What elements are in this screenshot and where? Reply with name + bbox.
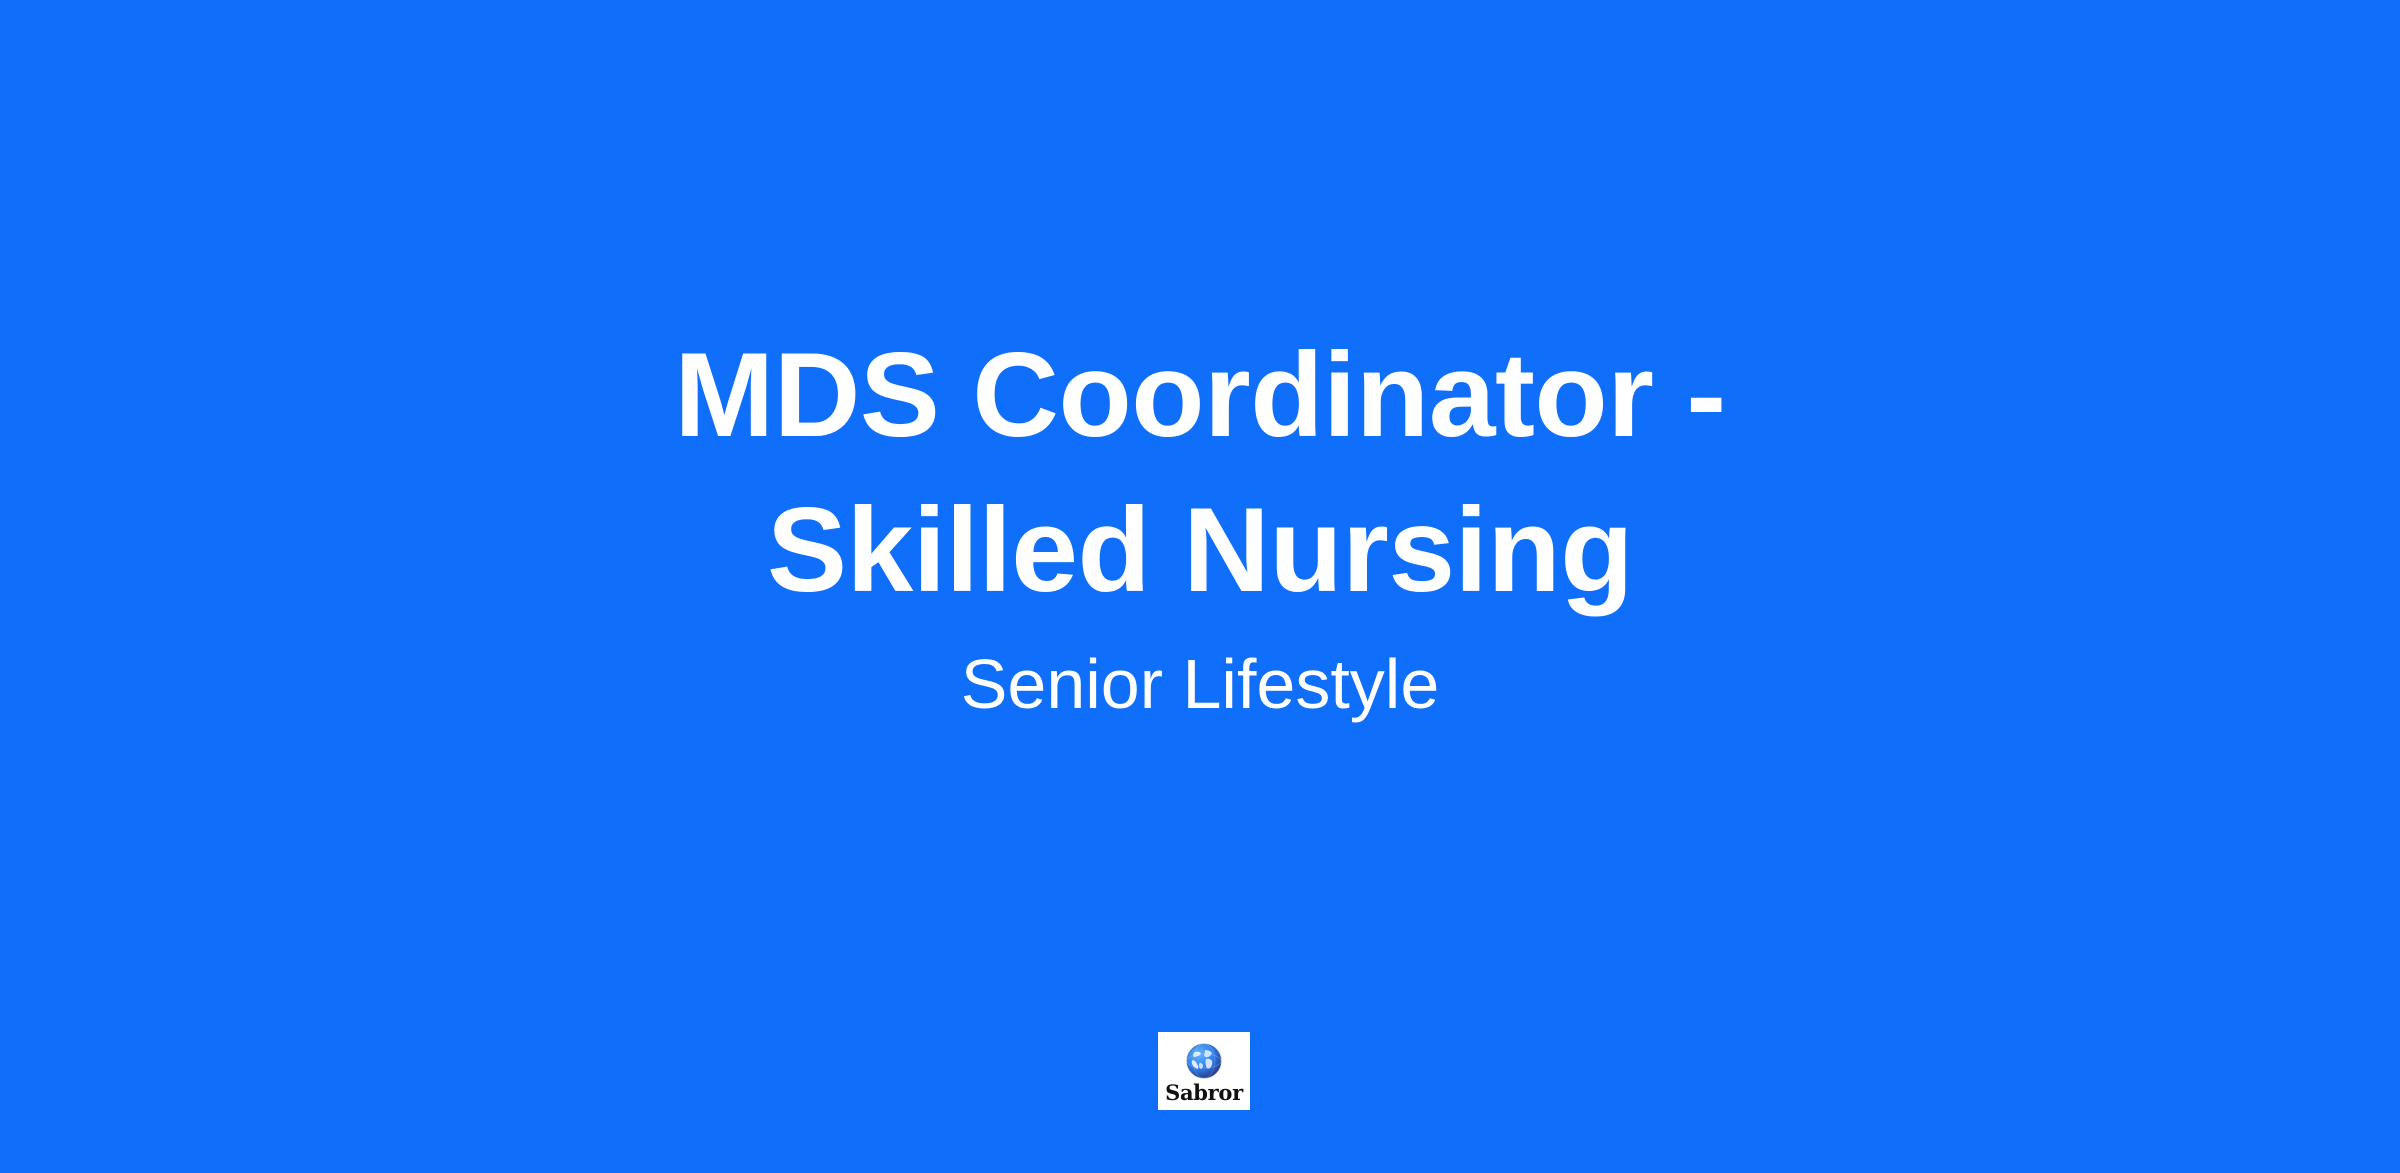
page-title: MDS Coordinator - Skilled Nursing [470, 318, 1930, 628]
brand-wordmark: Sabror [1165, 1082, 1243, 1103]
company-name: Senior Lifestyle [961, 642, 1440, 726]
globe-icon [1184, 1041, 1224, 1081]
brand-badge: Sabror [1158, 1032, 1250, 1110]
hero-text-block: MDS Coordinator - Skilled Nursing Senior… [470, 318, 1930, 726]
job-posting-card: MDS Coordinator - Skilled Nursing Senior… [0, 0, 2400, 1173]
